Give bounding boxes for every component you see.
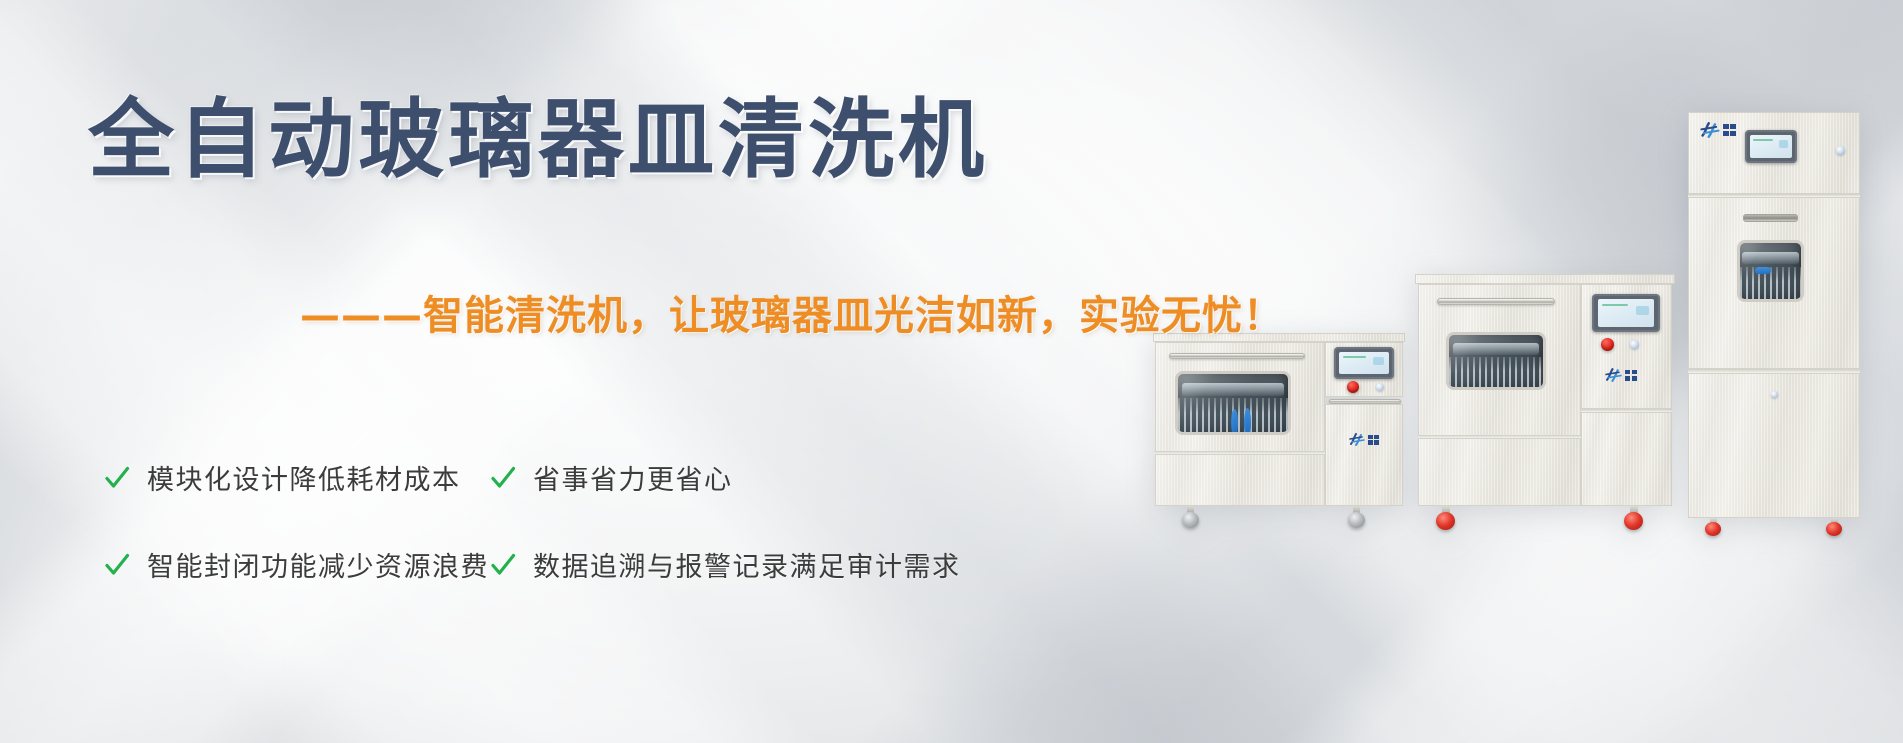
feature-item: 模块化设计降低耗材成本	[104, 458, 464, 497]
check-icon	[104, 552, 130, 578]
power-indicator-light	[1836, 146, 1845, 155]
brand-logo-squares	[1723, 124, 1736, 136]
feature-item: 数据追溯与报警记录满足审计需求	[490, 545, 961, 584]
hmi-touchscreen[interactable]	[1745, 130, 1797, 163]
door-handle	[1437, 298, 1555, 305]
cabinet-lock	[1771, 391, 1778, 398]
machine-lower-panel	[1155, 454, 1325, 506]
product-image-tall-column-glassware-washer-dryer	[1688, 112, 1860, 530]
brand-logo-mark	[1700, 122, 1720, 138]
machine-lower-panel	[1418, 438, 1581, 506]
brand-logo	[1605, 368, 1637, 382]
brand-logo	[1349, 433, 1379, 446]
check-icon	[490, 465, 516, 491]
feature-item: 省事省力更省心	[490, 458, 961, 497]
caster-wheel	[1624, 512, 1643, 530]
feature-label: 模块化设计降低耗材成本	[147, 458, 461, 497]
caster-wheel	[1705, 522, 1721, 536]
product-hero-banner: 全自动玻璃器皿清洗机 ———智能清洗机，让玻璃器皿光洁如新，实验无忧！ 模块化设…	[0, 0, 1903, 743]
product-image-undercounter-glassware-washer	[1153, 333, 1405, 528]
glass-reflection	[1178, 374, 1288, 432]
hmi-touchscreen[interactable]	[1334, 347, 1394, 379]
caster-wheel	[1826, 522, 1842, 536]
banner-content: 全自动玻璃器皿清洗机 ———智能清洗机，让玻璃器皿光洁如新，实验无忧！ 模块化设…	[0, 0, 1180, 743]
check-icon	[490, 552, 516, 578]
brand-logo-mark	[1349, 433, 1365, 446]
brand-logo	[1700, 122, 1736, 138]
power-indicator-light	[1376, 383, 1384, 391]
emergency-stop-button[interactable]	[1347, 381, 1359, 393]
caster-wheel	[1182, 512, 1199, 528]
brand-logo-squares	[1368, 435, 1379, 445]
feature-list: 模块化设计降低耗材成本 省事省力更省心 智能封闭功能减少资源浪费 数据追溯与报警…	[104, 458, 961, 584]
machine-top-cap	[1415, 274, 1675, 284]
chamber-window	[1175, 371, 1291, 435]
door-handle	[1169, 353, 1305, 359]
power-indicator-light	[1630, 340, 1639, 349]
banner-subheadline: ———智能清洗机，让玻璃器皿光洁如新，实验无忧！	[300, 283, 1284, 341]
caster-wheel	[1436, 512, 1455, 530]
brand-logo-squares	[1625, 370, 1637, 381]
chamber-window	[1737, 240, 1804, 302]
brand-logo-mark	[1605, 368, 1622, 382]
feature-item: 智能封闭功能减少资源浪费	[104, 545, 464, 584]
emergency-stop-button[interactable]	[1601, 338, 1614, 351]
glass-reflection	[1449, 335, 1543, 387]
feature-label: 智能封闭功能减少资源浪费	[147, 545, 489, 584]
glass-reflection	[1740, 243, 1801, 299]
caster-wheel	[1348, 512, 1365, 528]
chamber-window	[1446, 332, 1546, 390]
feature-label: 数据追溯与报警记录满足审计需求	[533, 545, 961, 584]
machine-side-cabinet	[1325, 404, 1403, 506]
feature-label: 省事省力更省心	[533, 458, 733, 497]
banner-headline: 全自动玻璃器皿清洗机	[88, 92, 988, 188]
product-image-freestanding-glassware-washer	[1415, 274, 1675, 530]
check-icon	[104, 465, 130, 491]
product-image-group	[1143, 0, 1903, 743]
vent-slot	[1743, 214, 1798, 222]
machine-side-cabinet	[1581, 412, 1672, 506]
hmi-touchscreen[interactable]	[1592, 294, 1660, 332]
